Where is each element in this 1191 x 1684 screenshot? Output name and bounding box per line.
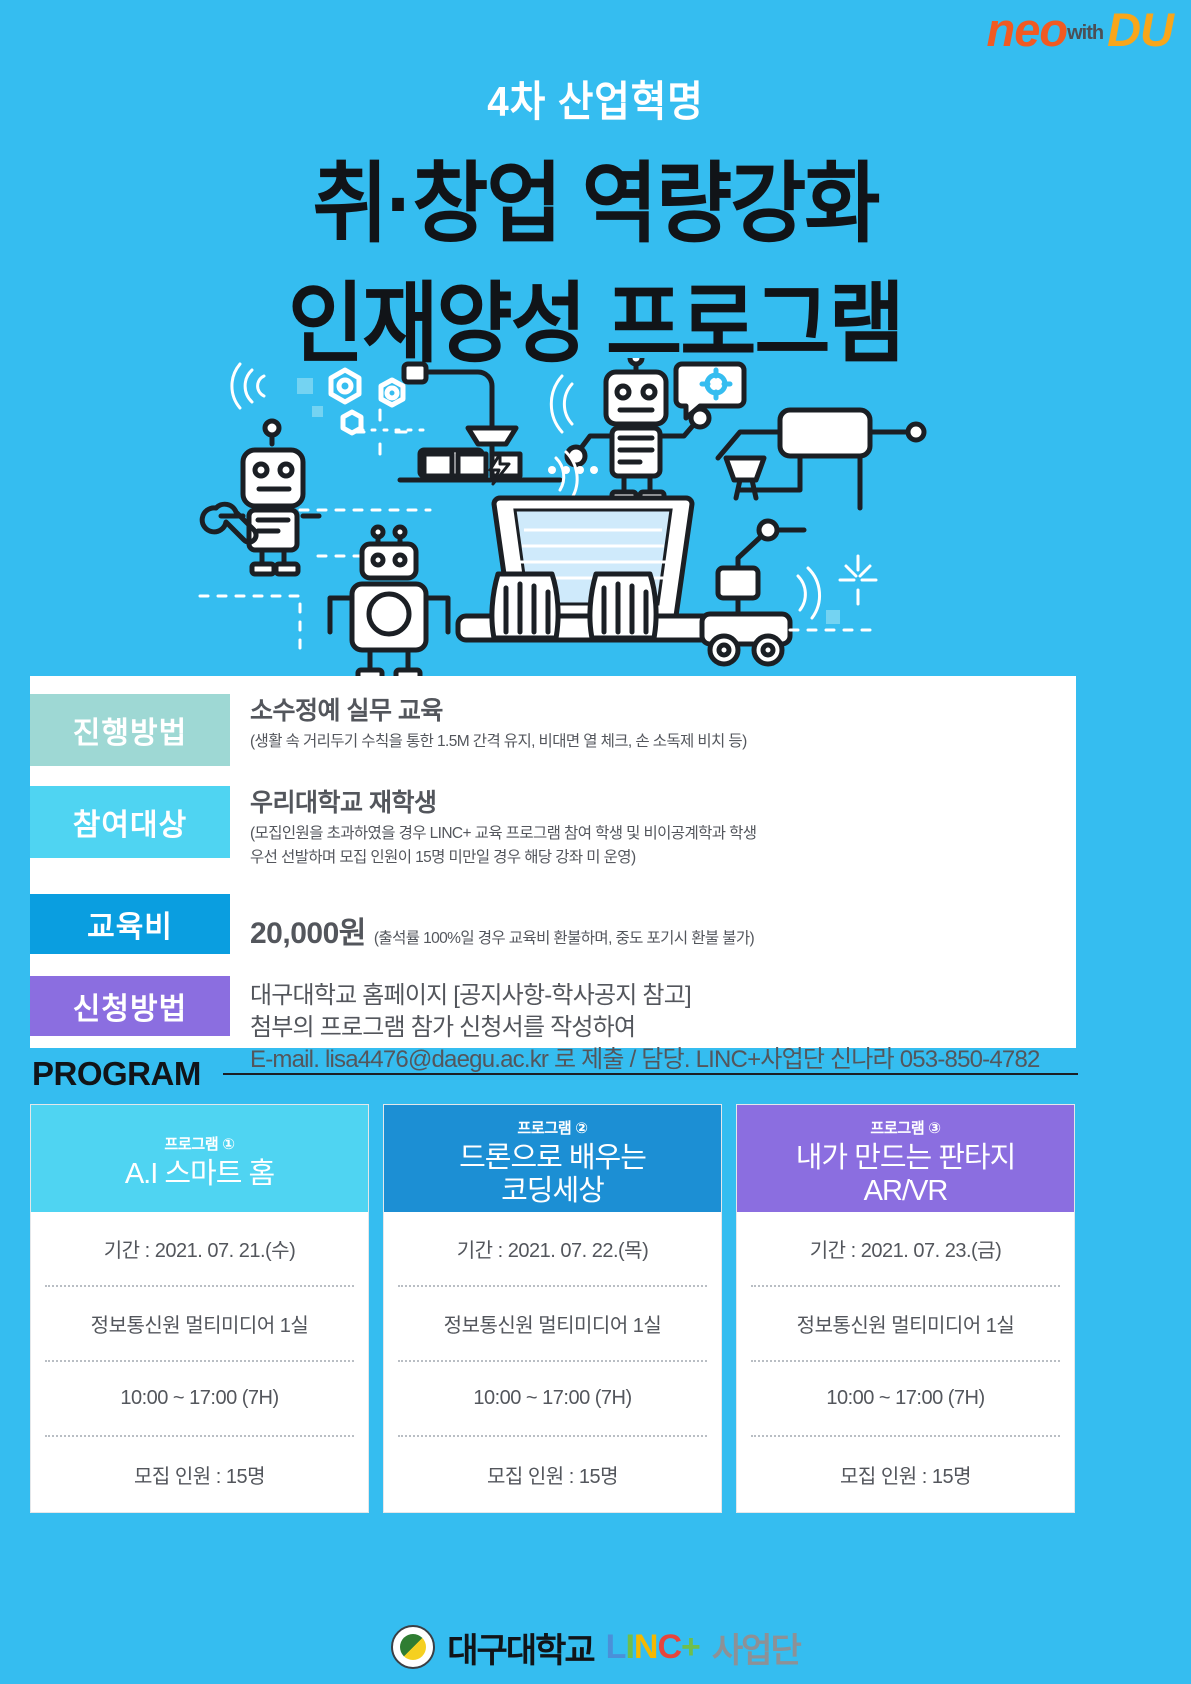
robot-arm-right xyxy=(718,410,924,508)
poster-title-line-1: 취·창업 역량강화 xyxy=(36,133,1156,260)
program-heading: PROGRAM xyxy=(32,1055,1078,1093)
info-label-apply: 신청방법 xyxy=(30,976,230,1036)
linc-letter-i: I xyxy=(625,1628,633,1667)
program-card-list: 프로그램 ① A.I 스마트 홈 기간 : 2021. 07. 21.(수) 정… xyxy=(30,1104,1075,1513)
program-card-3-time: 10:00 ~ 17:00 (7H) xyxy=(751,1362,1060,1437)
info-body-target: 우리대학교 재학생 (모집인원을 초과하였을 경우 LINC+ 교육 프로그램 … xyxy=(230,786,1076,858)
program-card-2-capacity: 모집 인원 : 15명 xyxy=(398,1437,707,1512)
program-card-3-period: 기간 : 2021. 07. 23.(금) xyxy=(751,1212,1060,1287)
footer-linc-sub: 사업단 xyxy=(712,1623,800,1672)
program-card-3-head: 프로그램 ③ 내가 만드는 판타지 AR/VR xyxy=(737,1105,1074,1212)
info-row-apply: 신청방법 대구대학교 홈페이지 [공지사항-학사공지 참고] 첨부의 프로그램 … xyxy=(30,976,1076,1036)
program-card-1[interactable]: 프로그램 ① A.I 스마트 홈 기간 : 2021. 07. 21.(수) 정… xyxy=(30,1104,369,1513)
program-card-1-place: 정보통신원 멀티미디어 1실 xyxy=(45,1287,354,1362)
fee-note: (출석률 100%일 경우 교육비 환불하며, 중도 포기시 환불 불가) xyxy=(374,926,754,948)
poster-root: neo with DU 4차 산업혁명 취·창업 역량강화 인재양성 프로그램 xyxy=(0,0,1191,1684)
neo-with-du-logo: neo with DU xyxy=(987,8,1173,53)
program-card-2-period: 기간 : 2021. 07. 22.(목) xyxy=(398,1212,707,1287)
program-card-2-head: 프로그램 ② 드론으로 배우는 코딩세상 xyxy=(384,1105,721,1212)
emblem-inner-shape xyxy=(400,1634,426,1660)
linc-letter-plus: + xyxy=(681,1628,700,1667)
logo-du-text: DU xyxy=(1107,8,1173,53)
conveyor-boxes xyxy=(400,450,560,480)
program-card-1-head: 프로그램 ① A.I 스마트 홈 xyxy=(31,1105,368,1212)
linc-plus-logo: L I N C + xyxy=(606,1628,700,1667)
program-card-3[interactable]: 프로그램 ③ 내가 만드는 판타지 AR/VR 기간 : 2021. 07. 2… xyxy=(736,1104,1075,1513)
robot-small xyxy=(330,527,448,678)
program-card-2-kicker: 프로그램 ② xyxy=(517,1117,587,1138)
robot-rover xyxy=(702,521,804,664)
program-card-2-title: 드론으로 배우는 코딩세상 xyxy=(459,1142,646,1209)
program-card-2-place: 정보통신원 멀티미디어 1실 xyxy=(398,1287,707,1362)
program-card-1-capacity: 모집 인원 : 15명 xyxy=(45,1437,354,1512)
program-card-3-title: 내가 만드는 판타지 AR/VR xyxy=(796,1142,1016,1209)
info-note-target-2: 우선 선발하며 모집 인원이 15명 미만일 경우 해당 강좌 미 운영) xyxy=(250,846,1076,870)
robot-center xyxy=(567,358,744,504)
linc-letter-c: C xyxy=(657,1628,681,1667)
robot-left xyxy=(202,364,319,574)
program-card-3-place: 정보통신원 멀티미디어 1실 xyxy=(751,1287,1060,1362)
info-label-method: 진행방법 xyxy=(30,694,230,766)
info-row-method: 진행방법 소수정예 실무 교육 (생활 속 거리두기 수칙을 통한 1.5M 간… xyxy=(30,694,1076,766)
info-body-method: 소수정예 실무 교육 (생활 속 거리두기 수칙을 통한 1.5M 간격 유지,… xyxy=(230,694,1076,766)
linc-letter-l: L xyxy=(606,1628,626,1667)
info-body-fee: 20,000원 (출석률 100%일 경우 교육비 환불하며, 중도 포기시 환… xyxy=(230,894,1076,954)
info-row-target: 참여대상 우리대학교 재학생 (모집인원을 초과하였을 경우 LINC+ 교육 … xyxy=(30,786,1076,858)
info-label-fee: 교육비 xyxy=(30,894,230,954)
illustration-svg xyxy=(0,358,1191,678)
program-card-3-capacity: 모집 인원 : 15명 xyxy=(751,1437,1060,1512)
info-body-apply: 대구대학교 홈페이지 [공지사항-학사공지 참고] 첨부의 프로그램 참가 신청… xyxy=(230,976,1076,1036)
info-row-fee: 교육비 20,000원 (출석률 100%일 경우 교육비 환불하며, 중도 포… xyxy=(30,894,1076,954)
info-label-target: 참여대상 xyxy=(30,786,230,858)
program-card-1-kicker: 프로그램 ① xyxy=(164,1133,234,1154)
program-card-1-title: A.I 스마트 홈 xyxy=(125,1158,274,1191)
program-card-3-kicker: 프로그램 ③ xyxy=(870,1117,940,1138)
apply-line-2: 첨부의 프로그램 참가 신청서를 작성하여 xyxy=(250,1012,1076,1044)
linc-letter-n: N xyxy=(634,1628,658,1667)
info-note-target-1: (모집인원을 초과하였을 경우 LINC+ 교육 프로그램 참여 학생 및 비이… xyxy=(250,822,1076,846)
program-card-2-time: 10:00 ~ 17:00 (7H) xyxy=(398,1362,707,1437)
info-head-target: 우리대학교 재학생 xyxy=(250,788,1076,818)
program-card-2-body: 기간 : 2021. 07. 22.(목) 정보통신원 멀티미디어 1실 10:… xyxy=(384,1212,721,1512)
info-head-method: 소수정예 실무 교육 xyxy=(250,696,1076,726)
program-card-3-body: 기간 : 2021. 07. 23.(금) 정보통신원 멀티미디어 1실 10:… xyxy=(737,1212,1074,1512)
info-panel: 진행방법 소수정예 실무 교육 (생활 속 거리두기 수칙을 통한 1.5M 간… xyxy=(30,676,1076,1048)
program-card-1-body: 기간 : 2021. 07. 21.(수) 정보통신원 멀티미디어 1실 10:… xyxy=(31,1212,368,1512)
program-card-2[interactable]: 프로그램 ② 드론으로 배우는 코딩세상 기간 : 2021. 07. 22.(… xyxy=(383,1104,722,1513)
info-note-method: (생활 속 거리두기 수칙을 통한 1.5M 간격 유지, 비대면 열 체크, … xyxy=(250,730,1076,754)
daegu-university-emblem-icon xyxy=(391,1625,435,1669)
program-card-1-period: 기간 : 2021. 07. 21.(수) xyxy=(45,1212,354,1287)
program-card-1-time: 10:00 ~ 17:00 (7H) xyxy=(45,1362,354,1437)
robotics-illustration xyxy=(0,358,1191,678)
apply-line-1: 대구대학교 홈페이지 [공지사항-학사공지 참고] xyxy=(250,980,1076,1012)
logo-neo-text: neo xyxy=(987,8,1068,53)
poster-subtitle: 4차 산업혁명 xyxy=(48,68,1144,129)
program-heading-rule xyxy=(223,1073,1078,1075)
logo-with-text: with xyxy=(1067,23,1103,43)
fee-amount: 20,000원 xyxy=(250,908,366,952)
program-heading-text: PROGRAM xyxy=(32,1055,201,1093)
footer-university-name: 대구대학교 xyxy=(447,1623,593,1672)
footer: 대구대학교 L I N C + 사업단 xyxy=(0,1610,1191,1684)
